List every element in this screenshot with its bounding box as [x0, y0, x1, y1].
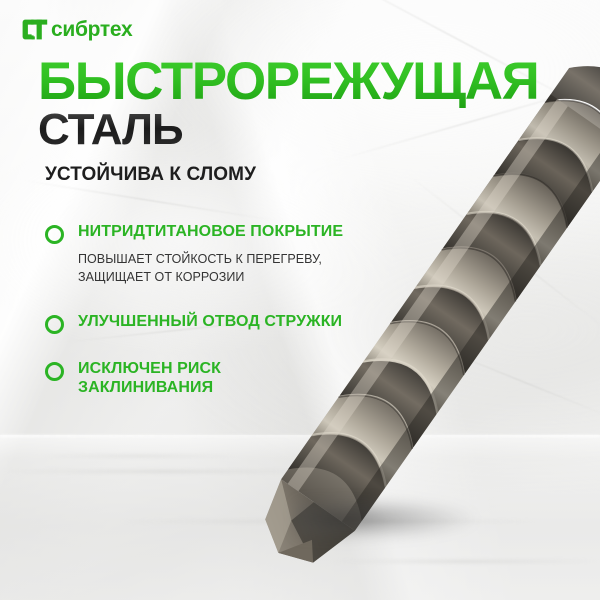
feature-item: УЛУЧШЕННЫЙ ОТВОД СТРУЖКИ — [45, 312, 345, 334]
ring-bullet-icon — [45, 225, 64, 244]
feature-heading: НИТРИДТИТАНОВОЕ ПОКРЫТИЕ — [45, 222, 345, 244]
headline-primary: БЫСТРОРЕЖУЩАЯ — [38, 55, 538, 108]
sibrtech-logo-mark-icon — [22, 19, 48, 40]
background-floor-streak — [40, 455, 240, 457]
background-floor-streak — [120, 520, 540, 523]
feature-title: НИТРИДТИТАНОВОЕ ПОКРЫТИЕ — [78, 222, 343, 241]
headline-subtitle: УСТОЙЧИВА К СЛОМУ — [45, 164, 256, 186]
background-floor-streak — [330, 560, 600, 563]
ring-bullet-icon — [45, 362, 64, 381]
ring-bullet-icon — [45, 315, 64, 334]
promo-poster: сибртех БЫСТРОРЕЖУЩАЯ СТАЛЬ УСТОЙЧИВА К … — [0, 0, 600, 600]
headline-secondary: СТАЛЬ — [38, 108, 183, 152]
background-floor — [0, 435, 600, 600]
brand-name: сибртех — [51, 19, 132, 40]
background-floor-streak — [0, 470, 330, 473]
feature-title: УЛУЧШЕННЫЙ ОТВОД СТРУЖКИ — [78, 312, 342, 331]
feature-item: ИСКЛЮЧЕН РИСК ЗАКЛИНИВАНИЯ — [45, 359, 345, 397]
feature-list: НИТРИДТИТАНОВОЕ ПОКРЫТИЕ ПОВЫШАЕТ СТОЙКО… — [45, 222, 345, 397]
background-floor-edge — [0, 435, 600, 437]
feature-heading: УЛУЧШЕННЫЙ ОТВОД СТРУЖКИ — [45, 312, 345, 334]
feature-heading: ИСКЛЮЧЕН РИСК ЗАКЛИНИВАНИЯ — [45, 359, 345, 397]
brand-logo[interactable]: сибртех — [22, 19, 132, 40]
feature-description: ПОВЫШАЕТ СТОЙКОСТЬ К ПЕРЕГРЕВУ, ЗАЩИЩАЕТ… — [78, 251, 345, 287]
feature-title: ИСКЛЮЧЕН РИСК ЗАКЛИНИВАНИЯ — [78, 359, 345, 397]
feature-item: НИТРИДТИТАНОВОЕ ПОКРЫТИЕ ПОВЫШАЕТ СТОЙКО… — [45, 222, 345, 287]
